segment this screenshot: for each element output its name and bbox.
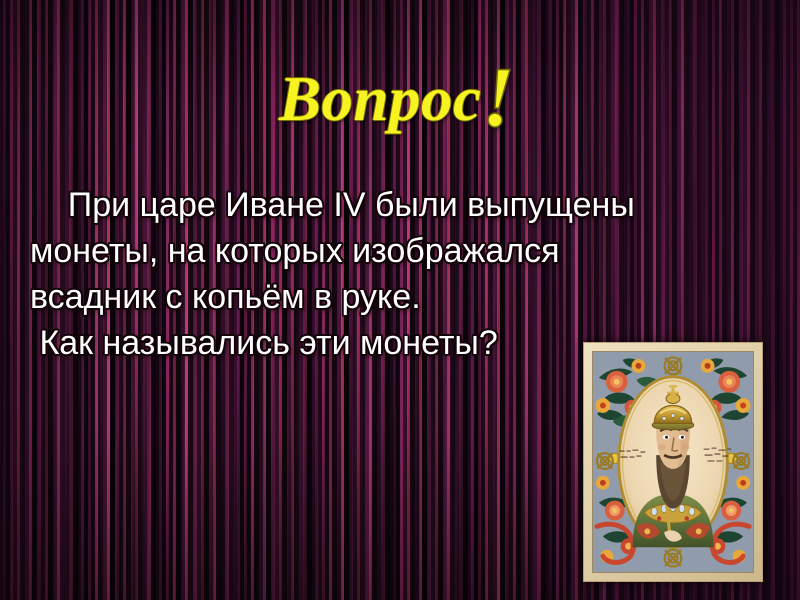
portrait-artwork-svg — [593, 352, 753, 572]
question-line-2: монеты, на которых изображался — [30, 228, 770, 274]
question-text-block: При царе Иване IV были выпущены монеты, … — [30, 182, 770, 366]
slide-title-word: Вопрос — [279, 64, 482, 134]
slide-title: Вопрос! — [0, 54, 800, 140]
slide-title-exclamation: ! — [482, 49, 515, 145]
portrait-illumination-panel — [592, 351, 754, 573]
ivan-iv-portrait-image — [583, 342, 763, 582]
question-line-1: При царе Иване IV были выпущены — [30, 182, 770, 228]
question-line-3: всадник с копьём в руке. — [30, 274, 770, 320]
quiz-slide: Вопрос! При царе Иване IV были выпущены … — [0, 0, 800, 600]
